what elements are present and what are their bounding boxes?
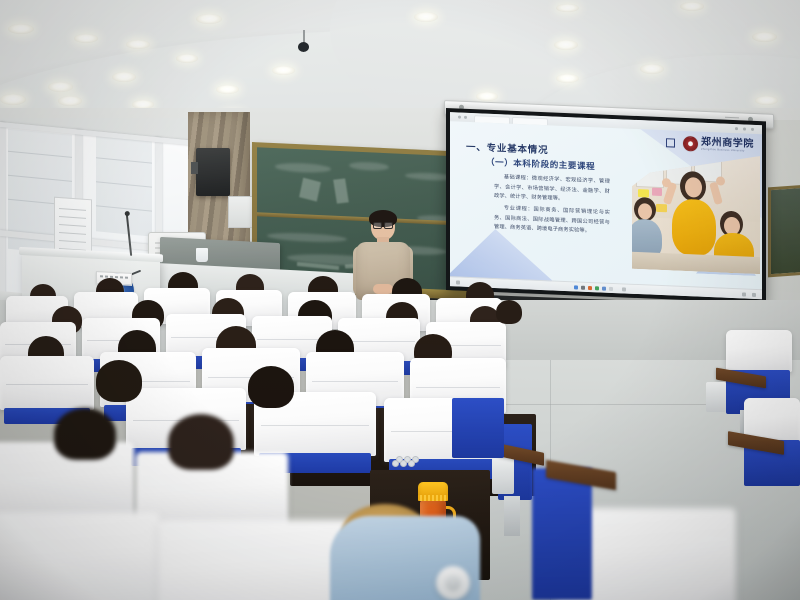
downlight — [48, 82, 73, 92]
slide-title: 一、专业基本情况 — [466, 139, 548, 156]
logo-square-icon — [666, 138, 675, 147]
downlight — [112, 72, 136, 82]
slide-body: 基础课程：微观经济学、宏观经济学、管理学、会计学、市场营销学、经济法、金融学、财… — [494, 173, 610, 240]
slide-paragraph-1: 基础课程：微观经济学、宏观经济学、管理学、会计学、市场营销学、经济法、金融学、财… — [494, 173, 610, 207]
downlight — [554, 40, 578, 50]
thermos-lid — [436, 566, 470, 600]
student-head — [496, 300, 522, 324]
auditorium-seat[interactable] — [726, 330, 792, 372]
seat-side-panel — [452, 398, 504, 458]
downlight — [8, 24, 34, 34]
downlight — [752, 32, 777, 42]
student-head — [248, 366, 294, 408]
seat-pedestal — [504, 496, 520, 536]
downlight — [640, 64, 664, 74]
slide-paragraph-2: 专业课程：国际商务、国际营销理论与实务、国际商法、国际战略管理、跨国公司经营与管… — [494, 204, 610, 238]
student-head — [168, 414, 234, 470]
wall-frame-right — [768, 185, 800, 278]
auditorium-seat[interactable] — [0, 356, 94, 410]
bottle-cap — [418, 482, 448, 501]
lecture-hall-photo: 郑州商学院 Zhengzhou Business University 一、专业… — [0, 0, 800, 600]
downlight — [196, 14, 222, 24]
seat-side-panel — [532, 468, 592, 600]
downlight — [0, 94, 26, 105]
downlight — [680, 2, 704, 11]
desk-cup — [196, 248, 208, 262]
downlight — [126, 40, 150, 49]
downlight — [556, 74, 579, 83]
auditorium-seat[interactable] — [0, 512, 160, 600]
ceiling-sensor-icon — [298, 42, 309, 52]
presentation-slide: 郑州商学院 Zhengzhou Business University 一、专业… — [450, 121, 762, 290]
student-head — [54, 408, 116, 460]
downlight — [755, 96, 778, 105]
downlight — [414, 12, 438, 22]
projector-screen[interactable]: 郑州商学院 Zhengzhou Business University 一、专业… — [446, 108, 766, 303]
downlight — [272, 66, 295, 75]
auditorium-seat[interactable] — [158, 520, 358, 600]
slide-subtitle: （一）本科阶段的主要课程 — [486, 156, 595, 173]
downlight — [74, 34, 98, 43]
wall-speaker-icon — [196, 148, 230, 196]
slide-photo — [632, 151, 760, 274]
downlight — [476, 92, 498, 101]
projected-desktop: 郑州商学院 Zhengzhou Business University 一、专业… — [450, 112, 762, 299]
downlight — [556, 4, 579, 12]
logo-seal-icon — [683, 136, 698, 152]
seat-badge — [392, 460, 415, 467]
glasses-icon — [373, 222, 393, 227]
downlight — [58, 96, 82, 106]
lecturer-hands — [373, 284, 393, 294]
downlight — [216, 85, 239, 94]
downlight — [176, 54, 198, 63]
student-head — [96, 360, 142, 402]
armrest — [706, 382, 726, 412]
